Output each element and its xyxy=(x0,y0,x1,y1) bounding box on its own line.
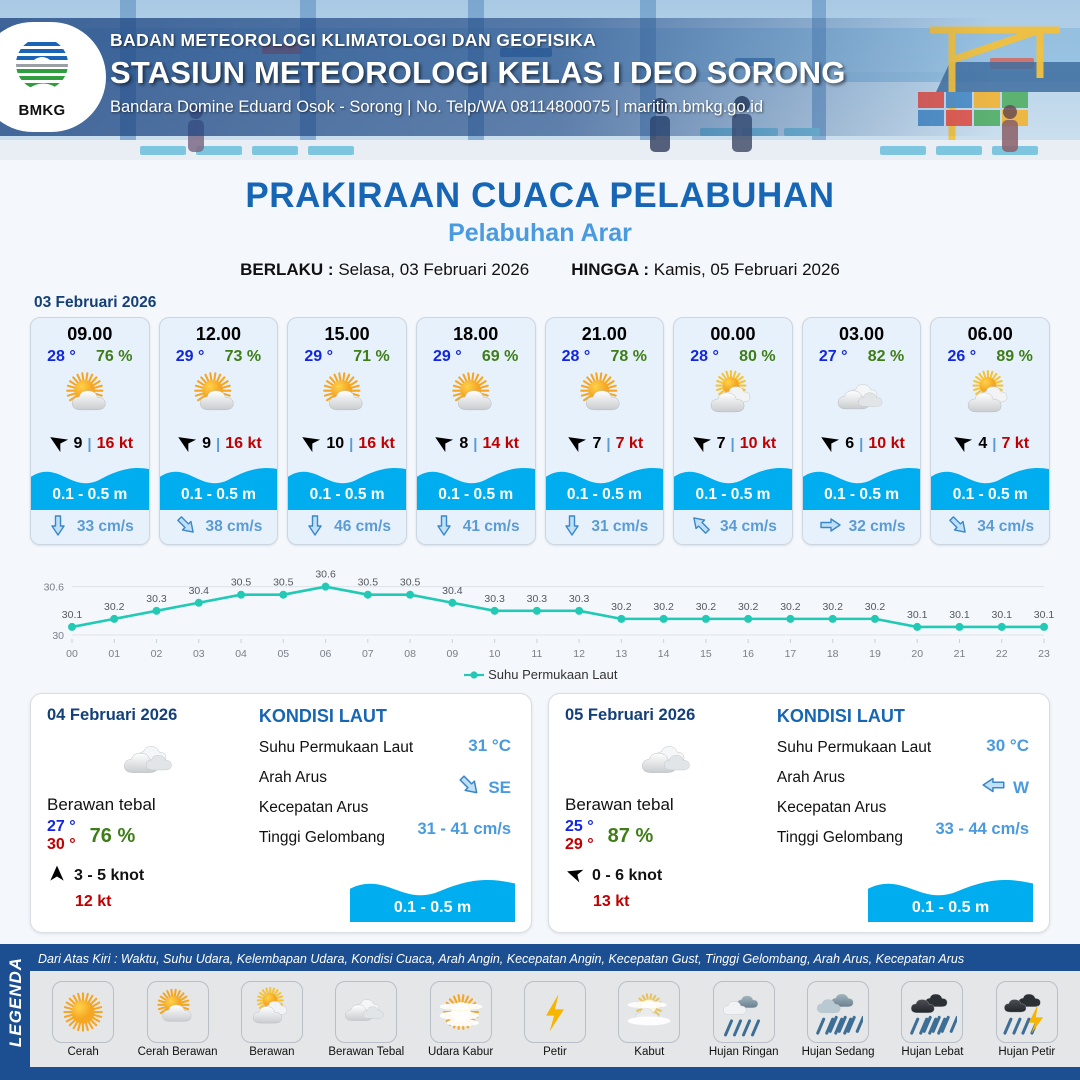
card-time: 06.00 xyxy=(931,318,1049,345)
svg-text:30.3: 30.3 xyxy=(146,593,167,605)
card-wave-block: 0.1 - 0.5 m xyxy=(417,458,535,510)
svg-text:12: 12 xyxy=(573,648,585,660)
wind-direction-arrow-icon xyxy=(818,431,840,458)
card-temperature: 28 ° xyxy=(47,348,76,366)
legend-item: Kabut xyxy=(607,981,691,1058)
card-wind-degree: 7 xyxy=(592,435,601,453)
card-wind-degree: 9 xyxy=(74,435,83,453)
header-text-block: BADAN METEOROLOGI KLIMATOLOGI DAN GEOFIS… xyxy=(110,30,846,117)
card-temp-humidity: 28 ° 76 % xyxy=(31,345,149,366)
daily-humidity: 76 % xyxy=(90,825,136,848)
card-wind-row: 7 | 7 kt xyxy=(546,430,664,458)
svg-text:30.2: 30.2 xyxy=(738,601,759,613)
legend-item-label: Hujan Sedang xyxy=(796,1046,880,1058)
svg-text:30.5: 30.5 xyxy=(273,577,294,589)
chart-legend-marker xyxy=(463,668,485,683)
current-direction-arrow-icon xyxy=(303,513,327,542)
svg-text:30.2: 30.2 xyxy=(865,601,886,613)
weather-cerah-berawan-icon xyxy=(31,368,149,430)
card-wave-block: 0.1 - 0.5 m xyxy=(674,458,792,510)
daily-forecast-panel: 05 Februari 2026 Berawan te xyxy=(548,693,1050,933)
card-time: 09.00 xyxy=(31,318,149,345)
card-gust: 16 kt xyxy=(358,435,394,453)
svg-text:30.2: 30.2 xyxy=(822,601,843,613)
card-separator: | xyxy=(473,436,477,453)
valid-from-value: Selasa, 03 Februari 2026 xyxy=(338,260,529,279)
svg-text:30.2: 30.2 xyxy=(653,601,674,613)
card-humidity: 82 % xyxy=(868,348,904,366)
card-time: 18.00 xyxy=(417,318,535,345)
legend-item: Cerah Berawan xyxy=(136,981,220,1058)
svg-text:08: 08 xyxy=(404,648,416,660)
validity-row: BERLAKU : Selasa, 03 Februari 2026 HINGG… xyxy=(0,260,1080,280)
agency-name: BADAN METEOROLOGI KLIMATOLOGI DAN GEOFIS… xyxy=(110,30,846,51)
forecast-card[interactable]: 18.00 29 ° 69 % xyxy=(416,317,536,545)
card-wind-row: 9 | 16 kt xyxy=(160,430,278,458)
svg-text:30.3: 30.3 xyxy=(527,593,548,605)
svg-text:30.2: 30.2 xyxy=(780,601,801,613)
card-gust: 10 kt xyxy=(740,435,776,453)
chart-legend: Suhu Permukaan Laut xyxy=(0,667,1080,683)
sst-chart-svg: 3030.60001020304050607080910111213141516… xyxy=(26,555,1054,665)
legend-item: Hujan Sedang xyxy=(796,981,880,1058)
card-wave-height: 0.1 - 0.5 m xyxy=(546,486,664,504)
card-wind-degree: 6 xyxy=(845,435,854,453)
card-wave-block: 0.1 - 0.5 m xyxy=(803,458,921,510)
card-temperature: 29 ° xyxy=(304,348,333,366)
card-gust: 14 kt xyxy=(483,435,519,453)
card-current-row: 34 cm/s xyxy=(931,510,1049,544)
svg-text:09: 09 xyxy=(447,648,459,660)
card-wind-row: 4 | 7 kt xyxy=(931,430,1049,458)
svg-text:02: 02 xyxy=(151,648,163,660)
legend-tab: LEGENDA xyxy=(0,944,30,1080)
daily-gust: 13 kt xyxy=(593,893,771,911)
forecast-card[interactable]: 09.00 28 ° 76 % xyxy=(30,317,150,545)
valid-until-value: Kamis, 05 Februari 2026 xyxy=(654,260,840,279)
daily-temp-col: 25 ° 29 ° xyxy=(565,818,594,855)
legend-tab-label: LEGENDA xyxy=(6,952,26,1052)
card-gust: 7 kt xyxy=(616,435,644,453)
current-direction-arrow-icon xyxy=(818,513,842,542)
daily-temp-min: 27 ° xyxy=(47,818,76,836)
card-temperature: 28 ° xyxy=(562,348,591,366)
card-gust: 10 kt xyxy=(868,435,904,453)
card-wind-row: 10 | 16 kt xyxy=(288,430,406,458)
weather-berawan-tebal-icon xyxy=(565,733,771,791)
card-wave-block: 0.1 - 0.5 m xyxy=(288,458,406,510)
daily-left: 05 Februari 2026 Berawan te xyxy=(565,706,771,922)
card-temperature: 29 ° xyxy=(433,348,462,366)
weather-hujan-petir-icon xyxy=(996,981,1058,1043)
weather-cerah-berawan-icon xyxy=(147,981,209,1043)
forecast-card[interactable]: 03.00 27 ° 82 % xyxy=(802,317,922,545)
page-title: PRAKIRAAN CUACA PELABUHAN xyxy=(0,176,1080,216)
card-time: 12.00 xyxy=(160,318,278,345)
svg-text:15: 15 xyxy=(700,648,712,660)
wind-direction-arrow-icon xyxy=(565,431,587,458)
card-humidity: 73 % xyxy=(225,348,261,366)
card-current-speed: 38 cm/s xyxy=(205,518,262,536)
card-current-speed: 46 cm/s xyxy=(334,518,391,536)
weather-berawan-icon xyxy=(931,368,1049,430)
wind-direction-arrow-icon xyxy=(951,431,973,458)
legend-body: Dari Atas Kiri : Waktu, Suhu Udara, Kele… xyxy=(30,944,1080,1080)
svg-text:00: 00 xyxy=(66,648,78,660)
weather-berawan-tebal-icon xyxy=(335,981,397,1043)
svg-text:30.1: 30.1 xyxy=(1034,609,1054,621)
daily-wind-speed: 0 - 6 knot xyxy=(592,867,662,885)
legend-footer: LEGENDA Dari Atas Kiri : Waktu, Suhu Uda… xyxy=(0,944,1080,1080)
forecast-card[interactable]: 15.00 29 ° 71 % xyxy=(287,317,407,545)
station-name: STASIUN METEOROLOGI KELAS I DEO SORONG xyxy=(110,55,846,91)
daily-date: 05 Februari 2026 xyxy=(565,706,771,725)
page-subtitle: Pelabuhan Arar xyxy=(0,219,1080,248)
forecast-card[interactable]: 00.00 28 ° 80 % xyxy=(673,317,793,545)
svg-text:30.4: 30.4 xyxy=(442,585,463,597)
sea-current-direction-value: SE xyxy=(456,772,511,803)
daily-sea-conditions: KONDISI LAUT Suhu Permukaan Laut Arah Ar… xyxy=(771,706,1033,922)
svg-text:05: 05 xyxy=(277,648,289,660)
valid-until: HINGGA : Kamis, 05 Februari 2026 xyxy=(571,260,840,280)
card-wave-height: 0.1 - 0.5 m xyxy=(417,486,535,504)
card-separator: | xyxy=(606,436,610,453)
sea-wave-box: 0.1 - 0.5 m xyxy=(868,870,1033,922)
daily-date: 04 Februari 2026 xyxy=(47,706,253,725)
legend-item: Cerah xyxy=(41,981,125,1058)
legend-item: Hujan Petir xyxy=(985,981,1069,1058)
card-wave-block: 0.1 - 0.5 m xyxy=(931,458,1049,510)
weather-cerah-berawan-icon xyxy=(160,368,278,430)
sea-section-title: KONDISI LAUT xyxy=(259,706,515,727)
card-wave-block: 0.1 - 0.5 m xyxy=(546,458,664,510)
current-direction-arrow-icon xyxy=(560,513,584,542)
legend-item-label: Hujan Petir xyxy=(985,1046,1069,1058)
card-wind-row: 8 | 14 kt xyxy=(417,430,535,458)
svg-text:30.1: 30.1 xyxy=(62,609,83,621)
current-direction-arrow-icon xyxy=(46,513,70,542)
svg-text:30.1: 30.1 xyxy=(907,609,928,621)
weather-cerah-berawan-icon xyxy=(546,368,664,430)
card-wind-row: 6 | 10 kt xyxy=(803,430,921,458)
weather-hujan-lebat-icon xyxy=(901,981,963,1043)
valid-from-label: BERLAKU : xyxy=(240,260,334,279)
legend-item-label: Berawan Tebal xyxy=(324,1046,408,1058)
svg-text:18: 18 xyxy=(827,648,839,660)
sea-wave-height-value: 0.1 - 0.5 m xyxy=(350,899,515,917)
card-current-speed: 34 cm/s xyxy=(977,518,1034,536)
svg-text:19: 19 xyxy=(869,648,881,660)
card-wave-block: 0.1 - 0.5 m xyxy=(31,458,149,510)
sst-chart: 3030.60001020304050607080910111213141516… xyxy=(26,555,1054,665)
card-temp-humidity: 28 ° 78 % xyxy=(546,345,664,366)
card-wind-degree: 4 xyxy=(978,435,987,453)
svg-text:23: 23 xyxy=(1038,648,1050,660)
daily-wind-speed: 3 - 5 knot xyxy=(74,867,144,885)
card-separator: | xyxy=(859,436,863,453)
card-wave-height: 0.1 - 0.5 m xyxy=(31,486,149,504)
wind-direction-arrow-icon xyxy=(690,431,712,458)
daily-temp-humidity: 25 ° 29 ° 87 % xyxy=(565,818,771,855)
card-wave-block: 0.1 - 0.5 m xyxy=(160,458,278,510)
current-direction-arrow-icon xyxy=(174,513,198,542)
svg-text:14: 14 xyxy=(658,648,670,660)
daily-temp-min: 25 ° xyxy=(565,818,594,836)
svg-text:30.6: 30.6 xyxy=(315,569,336,581)
weather-berawan-tebal-icon xyxy=(803,368,921,430)
card-wind-row: 7 | 10 kt xyxy=(674,430,792,458)
weather-hujan-sedang-icon xyxy=(807,981,869,1043)
daily-temp-max: 30 ° xyxy=(47,836,76,854)
svg-text:30.5: 30.5 xyxy=(231,577,252,589)
daily-temp-max: 29 ° xyxy=(565,836,594,854)
svg-text:30.2: 30.2 xyxy=(696,601,717,613)
daily-gust: 12 kt xyxy=(75,893,253,911)
sea-wave-box: 0.1 - 0.5 m xyxy=(350,870,515,922)
legend-item: Udara Kabur xyxy=(419,981,503,1058)
daily-temp-col: 27 ° 30 ° xyxy=(47,818,76,855)
sea-section-title: KONDISI LAUT xyxy=(777,706,1033,727)
svg-text:22: 22 xyxy=(996,648,1008,660)
weather-berawan-icon xyxy=(674,368,792,430)
svg-text:06: 06 xyxy=(320,648,332,660)
card-humidity: 71 % xyxy=(353,348,389,366)
card-separator: | xyxy=(349,436,353,453)
card-humidity: 78 % xyxy=(611,348,647,366)
sea-current-direction-label: W xyxy=(1013,778,1029,798)
svg-text:04: 04 xyxy=(235,648,247,660)
svg-text:30.3: 30.3 xyxy=(484,593,505,605)
legend-note: Dari Atas Kiri : Waktu, Suhu Udara, Kele… xyxy=(30,944,1080,971)
wind-direction-arrow-icon xyxy=(47,864,67,889)
weather-udara-kabur-icon xyxy=(430,981,492,1043)
card-humidity: 89 % xyxy=(996,348,1032,366)
card-current-row: 31 cm/s xyxy=(546,510,664,544)
valid-from: BERLAKU : Selasa, 03 Februari 2026 xyxy=(240,260,529,280)
current-direction-arrow-icon xyxy=(689,513,713,542)
legend-item: Hujan Ringan xyxy=(702,981,786,1058)
card-time: 21.00 xyxy=(546,318,664,345)
daily-condition: Berawan tebal xyxy=(47,795,253,815)
bmkg-logo: BMKG xyxy=(0,22,106,132)
card-separator: | xyxy=(731,436,735,453)
svg-text:30.3: 30.3 xyxy=(569,593,590,605)
svg-text:30.2: 30.2 xyxy=(104,601,125,613)
card-gust: 7 kt xyxy=(1001,435,1029,453)
card-temp-humidity: 28 ° 80 % xyxy=(674,345,792,366)
card-current-speed: 41 cm/s xyxy=(463,518,520,536)
card-wind-degree: 7 xyxy=(717,435,726,453)
svg-text:10: 10 xyxy=(489,648,501,660)
card-humidity: 76 % xyxy=(96,348,132,366)
svg-text:30.2: 30.2 xyxy=(611,601,632,613)
sea-current-direction-label: SE xyxy=(488,778,511,798)
weather-cerah-berawan-icon xyxy=(417,368,535,430)
svg-text:30: 30 xyxy=(52,630,64,642)
card-separator: | xyxy=(992,436,996,453)
card-gust: 16 kt xyxy=(225,435,261,453)
svg-text:16: 16 xyxy=(742,648,754,660)
forecast-card[interactable]: 21.00 28 ° 78 % xyxy=(545,317,665,545)
legend-icon-list: Cerah Cerah Berawan xyxy=(30,971,1080,1067)
card-current-row: 41 cm/s xyxy=(417,510,535,544)
card-temp-humidity: 27 ° 82 % xyxy=(803,345,921,366)
current-direction-arrow-icon xyxy=(981,772,1007,803)
svg-text:11: 11 xyxy=(531,648,542,660)
card-wave-height: 0.1 - 0.5 m xyxy=(674,486,792,504)
svg-text:30.6: 30.6 xyxy=(44,582,65,594)
card-current-speed: 32 cm/s xyxy=(849,518,906,536)
card-current-speed: 33 cm/s xyxy=(77,518,134,536)
card-wind-row: 9 | 16 kt xyxy=(31,430,149,458)
legend-item: Petir xyxy=(513,981,597,1058)
weather-kabut-icon xyxy=(618,981,680,1043)
svg-text:01: 01 xyxy=(108,648,120,660)
wind-direction-arrow-icon xyxy=(565,864,585,889)
card-separator: | xyxy=(87,436,91,453)
daily-temp-humidity: 27 ° 30 ° 76 % xyxy=(47,818,253,855)
card-wave-height: 0.1 - 0.5 m xyxy=(931,486,1049,504)
svg-text:03: 03 xyxy=(193,648,205,660)
svg-text:30.1: 30.1 xyxy=(992,609,1013,621)
legend-item-label: Berawan xyxy=(230,1046,314,1058)
daily-left: 04 Februari 2026 Berawan te xyxy=(47,706,253,922)
card-temperature: 27 ° xyxy=(819,348,848,366)
sea-sst-value: 31 °C xyxy=(468,736,511,756)
svg-text:07: 07 xyxy=(362,648,374,660)
current-direction-arrow-icon xyxy=(456,772,482,803)
card-wind-degree: 9 xyxy=(202,435,211,453)
valid-until-label: HINGGA : xyxy=(571,260,649,279)
svg-text:13: 13 xyxy=(616,648,628,660)
svg-text:30.5: 30.5 xyxy=(400,577,421,589)
daily-forecast-panel: 04 Februari 2026 Berawan te xyxy=(30,693,532,933)
card-temp-humidity: 29 ° 71 % xyxy=(288,345,406,366)
svg-text:30.1: 30.1 xyxy=(949,609,970,621)
card-gust: 16 kt xyxy=(97,435,133,453)
card-time: 03.00 xyxy=(803,318,921,345)
page-header: BMKG BADAN METEOROLOGI KLIMATOLOGI DAN G… xyxy=(0,0,1080,160)
sea-wave-height-value: 0.1 - 0.5 m xyxy=(868,899,1033,917)
sea-sst-value: 30 °C xyxy=(986,736,1029,756)
legend-item-label: Petir xyxy=(513,1046,597,1058)
bmkg-logo-text: BMKG xyxy=(6,102,78,119)
sea-current-speed-value: 31 - 41 cm/s xyxy=(417,820,511,839)
card-current-row: 46 cm/s xyxy=(288,510,406,544)
card-temp-humidity: 26 ° 89 % xyxy=(931,345,1049,366)
card-wave-height: 0.1 - 0.5 m xyxy=(803,486,921,504)
forecast-card[interactable]: 06.00 26 ° 89 % xyxy=(930,317,1050,545)
current-direction-arrow-icon xyxy=(946,513,970,542)
legend-item-label: Kabut xyxy=(607,1046,691,1058)
legend-item: Berawan Tebal xyxy=(324,981,408,1058)
weather-berawan-tebal-icon xyxy=(47,733,253,791)
weather-petir-icon xyxy=(524,981,586,1043)
forecast-card-list: 09.00 28 ° 76 % xyxy=(0,317,1080,545)
card-current-row: 34 cm/s xyxy=(674,510,792,544)
card-time: 15.00 xyxy=(288,318,406,345)
wind-direction-arrow-icon xyxy=(175,431,197,458)
card-current-speed: 34 cm/s xyxy=(720,518,777,536)
svg-text:21: 21 xyxy=(954,648,966,660)
card-temp-humidity: 29 ° 73 % xyxy=(160,345,278,366)
forecast-date-label: 03 Februari 2026 xyxy=(34,294,1080,312)
legend-item-label: Cerah Berawan xyxy=(136,1046,220,1058)
card-time: 00.00 xyxy=(674,318,792,345)
station-contact: Bandara Domine Eduard Osok - Sorong | No… xyxy=(110,98,846,117)
card-wind-degree: 10 xyxy=(326,435,344,453)
sea-current-direction-value: W xyxy=(981,772,1029,803)
legend-item: Berawan xyxy=(230,981,314,1058)
daily-wind-row: 0 - 6 knot xyxy=(565,864,771,889)
forecast-card[interactable]: 12.00 29 ° 73 % xyxy=(159,317,279,545)
svg-text:30.4: 30.4 xyxy=(189,585,210,597)
daily-sea-conditions: KONDISI LAUT Suhu Permukaan Laut Arah Ar… xyxy=(253,706,515,922)
card-current-row: 32 cm/s xyxy=(803,510,921,544)
weather-berawan-icon xyxy=(241,981,303,1043)
card-current-speed: 31 cm/s xyxy=(591,518,648,536)
card-current-row: 38 cm/s xyxy=(160,510,278,544)
chart-legend-label: Suhu Permukaan Laut xyxy=(488,667,617,682)
card-humidity: 80 % xyxy=(739,348,775,366)
daily-humidity: 87 % xyxy=(608,825,654,848)
legend-item-label: Hujan Lebat xyxy=(890,1046,974,1058)
card-temperature: 29 ° xyxy=(176,348,205,366)
wind-direction-arrow-icon xyxy=(432,431,454,458)
svg-text:30.5: 30.5 xyxy=(358,577,379,589)
daily-wind-row: 3 - 5 knot xyxy=(47,864,253,889)
svg-text:20: 20 xyxy=(911,648,923,660)
wind-direction-arrow-icon xyxy=(47,431,69,458)
card-separator: | xyxy=(216,436,220,453)
weather-cerah-icon xyxy=(52,981,114,1043)
card-temperature: 26 ° xyxy=(948,348,977,366)
wind-direction-arrow-icon xyxy=(299,431,321,458)
card-current-row: 33 cm/s xyxy=(31,510,149,544)
legend-item-label: Cerah xyxy=(41,1046,125,1058)
legend-item-label: Hujan Ringan xyxy=(702,1046,786,1058)
card-humidity: 69 % xyxy=(482,348,518,366)
card-temp-humidity: 29 ° 69 % xyxy=(417,345,535,366)
weather-hujan-ringan-icon xyxy=(713,981,775,1043)
legend-item: Hujan Lebat xyxy=(890,981,974,1058)
bmkg-logo-icon xyxy=(10,36,74,96)
sea-current-speed-value: 33 - 44 cm/s xyxy=(935,820,1029,839)
card-wind-degree: 8 xyxy=(459,435,468,453)
daily-condition: Berawan tebal xyxy=(565,795,771,815)
legend-item-label: Udara Kabur xyxy=(419,1046,503,1058)
current-direction-arrow-icon xyxy=(432,513,456,542)
weather-cerah-berawan-icon xyxy=(288,368,406,430)
svg-text:17: 17 xyxy=(785,648,797,660)
card-temperature: 28 ° xyxy=(690,348,719,366)
daily-forecast-panels: 04 Februari 2026 Berawan te xyxy=(0,683,1080,933)
card-wave-height: 0.1 - 0.5 m xyxy=(288,486,406,504)
card-wave-height: 0.1 - 0.5 m xyxy=(160,486,278,504)
